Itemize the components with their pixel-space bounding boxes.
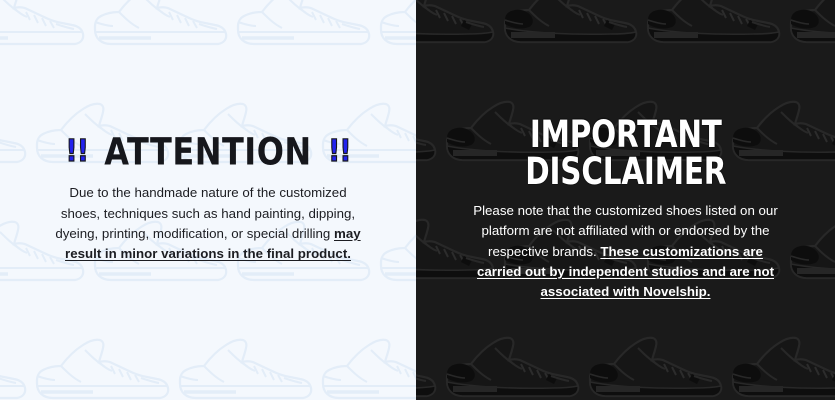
double-exclamation-right-icon: !! [328, 137, 351, 167]
double-exclamation-left-icon: !! [65, 137, 88, 167]
attention-content: !! ATTENTION !! Due to the handmade natu… [0, 0, 416, 400]
attention-body-normal: Due to the handmade nature of the custom… [55, 185, 355, 241]
disclaimer-banner: !! ATTENTION !! Due to the handmade natu… [0, 0, 835, 400]
disclaimer-body: Please note that the customized shoes li… [466, 201, 786, 303]
attention-body: Due to the handmade nature of the custom… [49, 183, 367, 264]
attention-panel: !! ATTENTION !! Due to the handmade natu… [0, 0, 416, 400]
disclaimer-heading-line2: DISCLAIMER [525, 154, 726, 191]
disclaimer-heading-line1: IMPORTANT [525, 117, 726, 154]
disclaimer-heading: IMPORTANT DISCLAIMER [525, 117, 726, 191]
disclaimer-panel: IMPORTANT DISCLAIMER Please note that th… [416, 0, 835, 400]
disclaimer-content: IMPORTANT DISCLAIMER Please note that th… [416, 0, 835, 400]
attention-heading: !! ATTENTION !! [65, 135, 350, 168]
attention-title: ATTENTION [104, 133, 311, 171]
